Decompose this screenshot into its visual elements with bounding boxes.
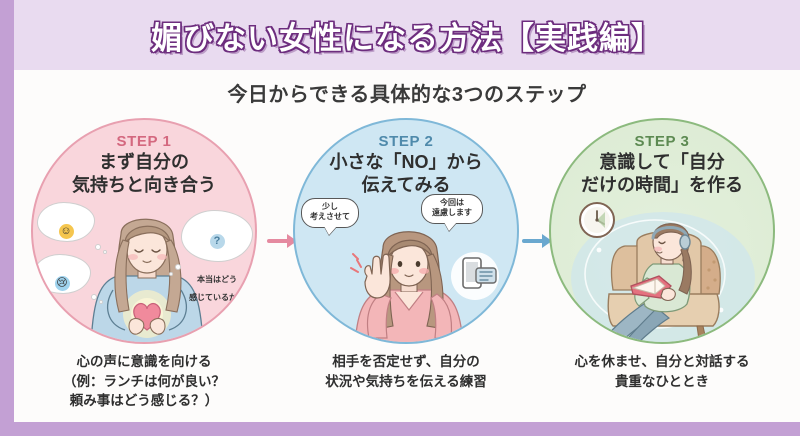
thought-bubble-happy: ☺ 嬉しい <box>37 202 95 242</box>
speech-bubble-think: 少し 考えさせて <box>301 198 359 228</box>
steps-row: STEP 1 まず自分の 気持ちと向き合う <box>14 118 800 418</box>
step-card-1: STEP 1 まず自分の 気持ちと向き合う <box>24 118 264 418</box>
thought-dot <box>99 300 103 304</box>
step-3-label: STEP 3 <box>551 133 773 150</box>
thought-dot <box>95 244 101 250</box>
step-1-caption: 心の声に意識を向ける （例：ランチは何が良い？ 頼み事はどう感じる？） <box>16 352 272 411</box>
step-1-heading: まず自分の 気持ちと向き合う <box>33 151 255 196</box>
thought-dot <box>175 264 181 270</box>
thought-dot <box>91 294 97 300</box>
speech-bubble-decline: 今回は 遠慮します <box>421 194 483 224</box>
step-2-circle: STEP 2 小さな「NO」から 伝えてみる <box>293 118 519 344</box>
crying-face-emoji: 😢 <box>55 276 70 291</box>
step-3-illustration <box>551 198 775 344</box>
step-1-illustration: ☺ 嬉しい 😢 悲しい ? 本当はどう 感じているか？ <box>33 198 257 344</box>
step-3-circle: STEP 3 意識して「自分 だけの時間」を作る <box>549 118 775 344</box>
thought-dot <box>169 272 173 276</box>
step-2-caption: 相手を否定せず、自分の 状況や気持ちを伝える練習 <box>278 352 534 391</box>
step-1-circle: STEP 1 まず自分の 気持ちと向き合う <box>31 118 257 344</box>
step-2-label: STEP 2 <box>295 133 517 150</box>
thought-bubble-sad: 😢 悲しい <box>33 254 91 294</box>
step-3-heading: 意識して「自分 だけの時間」を作る <box>551 151 773 196</box>
thought-bubble-question-text: 本当はどう 感じているか？ <box>189 275 245 302</box>
step-2-illustration: 少し 考えさせて 今回は 遠慮します <box>295 198 519 344</box>
subtitle: 今日からできる具体的な3つのステップ <box>14 78 800 107</box>
step-1-label: STEP 1 <box>33 133 255 150</box>
step-3-caption: 心を休ませ、自分と対話する 貴重なひととき <box>534 352 790 391</box>
step-card-3: STEP 3 意識して「自分 だけの時間」を作る <box>542 118 782 418</box>
step-2-heading: 小さな「NO」から 伝えてみる <box>295 151 517 196</box>
title-banner: 媚びない女性になる方法【実践編】 <box>14 0 800 70</box>
infographic-frame: 媚びない女性になる方法【実践編】 今日からできる具体的な3つのステップ STEP… <box>14 0 800 422</box>
woman-reading-in-armchair-svg <box>551 198 775 344</box>
question-mark-icon: ? <box>210 234 225 249</box>
thought-dot <box>103 250 107 254</box>
thought-bubble-sad-text: 悲しい <box>51 317 74 326</box>
page-title: 媚びない女性になる方法【実践編】 <box>151 13 663 58</box>
step-card-2: STEP 2 小さな「NO」から 伝えてみる <box>286 118 526 418</box>
smiling-face-emoji: ☺ <box>59 224 74 239</box>
thought-bubble-question: ? 本当はどう 感じているか？ <box>181 210 253 262</box>
